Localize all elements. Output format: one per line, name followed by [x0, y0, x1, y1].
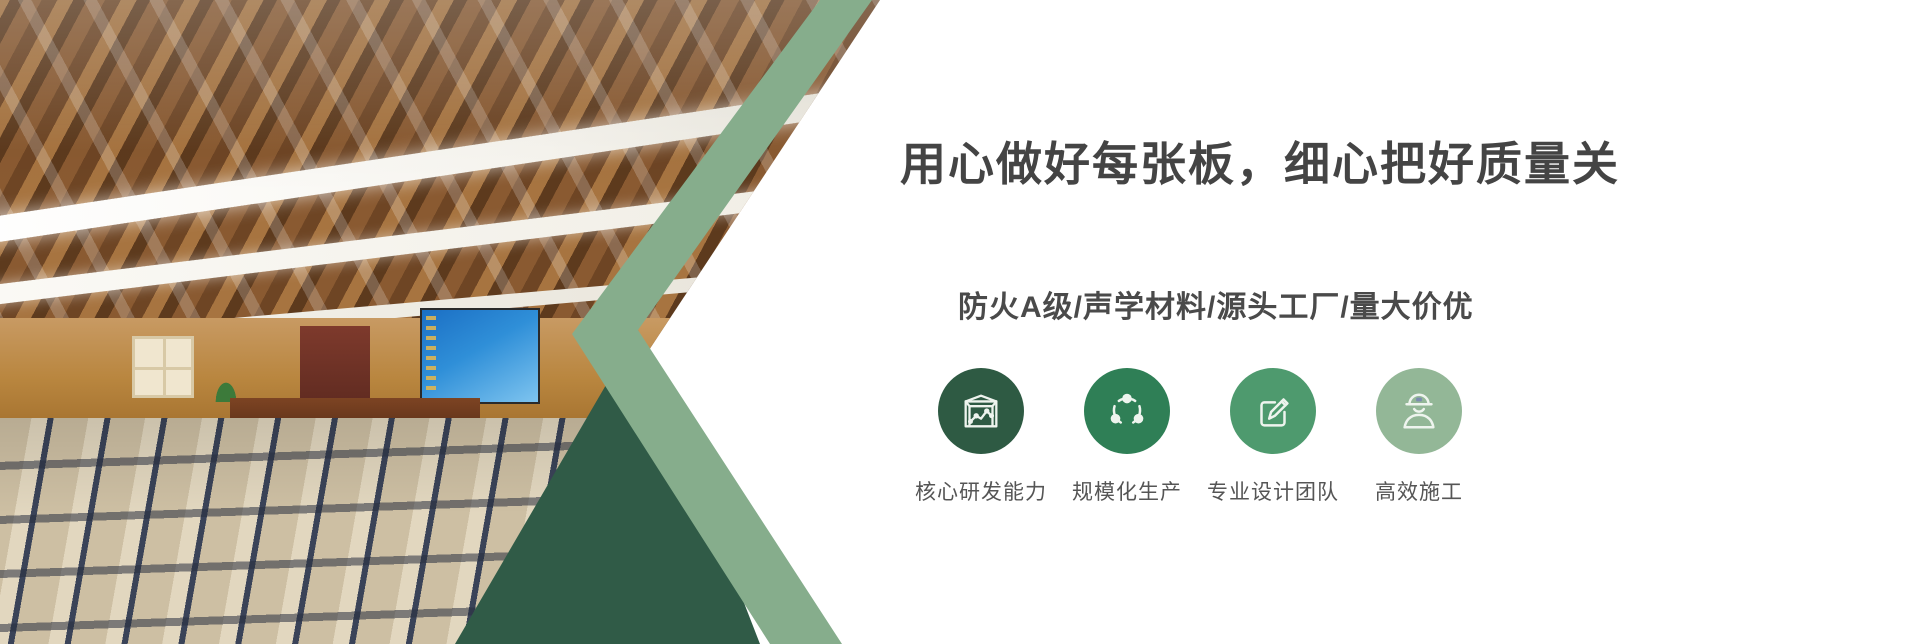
window	[132, 336, 194, 398]
feature-item-rnd[interactable]: 核心研发能力	[908, 368, 1054, 506]
feature-list: 核心研发能力 规模化生产	[908, 368, 1492, 506]
feature-label-rnd: 核心研发能力	[915, 476, 1047, 506]
feature-icon-circle-production	[1084, 368, 1170, 454]
feature-icon-circle-construction	[1376, 368, 1462, 454]
network-nodes-icon	[1104, 388, 1150, 434]
banner-content: 用心做好每张板，细心把好质量关 防火A级/声学材料/源头工厂/量大价优	[900, 0, 1920, 644]
feature-icon-circle-rnd	[938, 368, 1024, 454]
feature-icon-circle-design	[1230, 368, 1316, 454]
feature-label-construction: 高效施工	[1375, 476, 1463, 506]
banner-headline: 用心做好每张板，细心把好质量关	[900, 128, 1620, 194]
presentation-screen	[420, 308, 540, 404]
hard-hat-worker-icon	[1396, 388, 1442, 434]
banner-subheadline: 防火A级/声学材料/源头工厂/量大价优	[958, 282, 1474, 326]
feature-item-design[interactable]: 专业设计团队	[1200, 368, 1346, 506]
feature-item-construction[interactable]: 高效施工	[1346, 368, 1492, 506]
feature-label-design: 专业设计团队	[1207, 476, 1339, 506]
box-chart-icon	[958, 388, 1004, 434]
feature-item-production[interactable]: 规模化生产	[1054, 368, 1200, 506]
hero-banner: 用心做好每张板，细心把好质量关 防火A级/声学材料/源头工厂/量大价优	[0, 0, 1920, 644]
pencil-square-icon	[1250, 388, 1296, 434]
feature-label-production: 规模化生产	[1072, 476, 1182, 506]
